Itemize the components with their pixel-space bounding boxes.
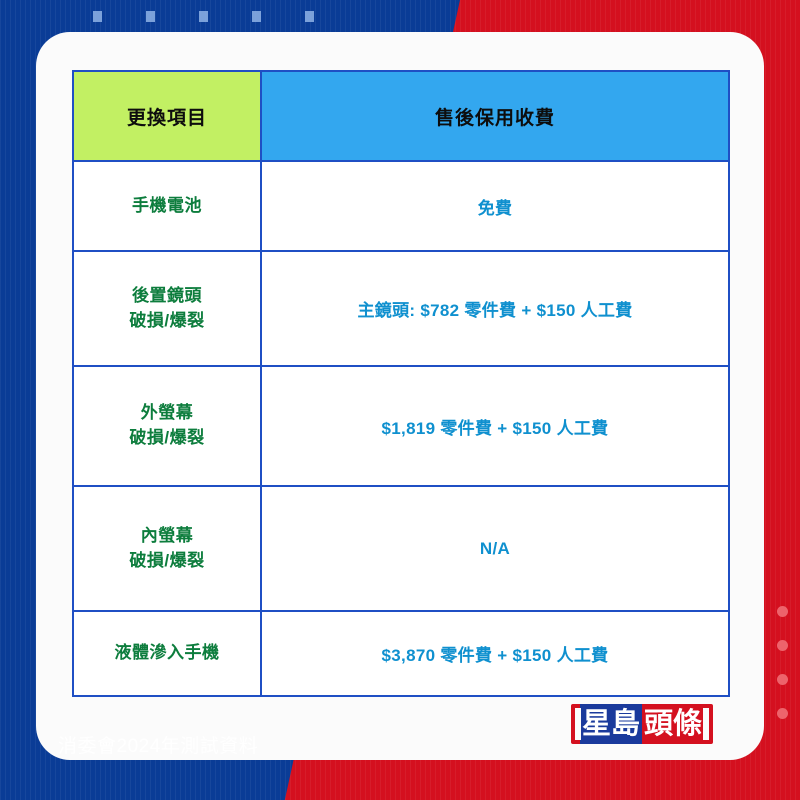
item-line-2: 破損/爆裂 xyxy=(80,309,254,334)
item-line-1: 外螢幕 xyxy=(80,401,254,426)
item-line-2: 破損/爆裂 xyxy=(80,549,254,574)
logo-left-bracket-icon xyxy=(571,704,580,744)
cell-fee: $1,819 零件費 + $150 人工費 xyxy=(261,366,729,486)
table-row: 內螢幕 破損/爆裂 N/A xyxy=(73,486,729,611)
logo-right-bracket-icon xyxy=(704,704,713,744)
logo-text-red: 頭條 xyxy=(642,704,704,744)
decorative-square-dot xyxy=(93,11,102,22)
table-row: 後置鏡頭 破損/爆裂 主鏡頭: $782 零件費 + $150 人工費 xyxy=(73,251,729,366)
item-line-1: 後置鏡頭 xyxy=(80,284,254,309)
right-dot-column xyxy=(777,606,788,719)
cell-fee: N/A xyxy=(261,486,729,611)
decorative-round-dot xyxy=(777,708,788,719)
cell-item: 液體滲入手機 xyxy=(73,611,261,696)
cell-fee: 主鏡頭: $782 零件費 + $150 人工費 xyxy=(261,251,729,366)
item-line-2: 破損/爆裂 xyxy=(80,426,254,451)
decorative-square-dot xyxy=(199,11,208,22)
column-header-item: 更換項目 xyxy=(73,71,261,161)
decorative-round-dot xyxy=(777,674,788,685)
decorative-round-dot xyxy=(777,606,788,617)
cell-item: 內螢幕 破損/爆裂 xyxy=(73,486,261,611)
source-caption: 消委會2024年測試資料 xyxy=(58,731,258,758)
cell-item: 手機電池 xyxy=(73,161,261,251)
table-header-row: 更換項目 售後保用收費 xyxy=(73,71,729,161)
table-row: 手機電池 免費 xyxy=(73,161,729,251)
item-line-1: 液體滲入手機 xyxy=(80,641,254,666)
decorative-round-dot xyxy=(777,640,788,651)
table-row: 外螢幕 破損/爆裂 $1,819 零件費 + $150 人工費 xyxy=(73,366,729,486)
item-line-1: 手機電池 xyxy=(80,194,254,219)
item-line-1: 內螢幕 xyxy=(80,524,254,549)
cell-fee: $3,870 零件費 + $150 人工費 xyxy=(261,611,729,696)
decorative-square-dot xyxy=(305,11,314,22)
decorative-square-dot xyxy=(146,11,155,22)
screenshot-canvas: 更換項目 售後保用收費 手機電池 免費 後置鏡頭 破損/爆裂 主鏡頭: $782 xyxy=(0,0,800,800)
top-dot-row xyxy=(93,11,314,22)
cell-item: 後置鏡頭 破損/爆裂 xyxy=(73,251,261,366)
table-row: 液體滲入手機 $3,870 零件費 + $150 人工費 xyxy=(73,611,729,696)
column-header-fee: 售後保用收費 xyxy=(261,71,729,161)
repair-fee-table: 更換項目 售後保用收費 手機電池 免費 後置鏡頭 破損/爆裂 主鏡頭: $782 xyxy=(72,70,730,697)
brand-logo: 星島 頭條 xyxy=(571,701,737,747)
logo-text-blue: 星島 xyxy=(580,704,642,744)
decorative-square-dot xyxy=(252,11,261,22)
cell-item: 外螢幕 破損/爆裂 xyxy=(73,366,261,486)
content-card: 更換項目 售後保用收費 手機電池 免費 後置鏡頭 破損/爆裂 主鏡頭: $782 xyxy=(36,32,764,760)
cell-fee: 免費 xyxy=(261,161,729,251)
